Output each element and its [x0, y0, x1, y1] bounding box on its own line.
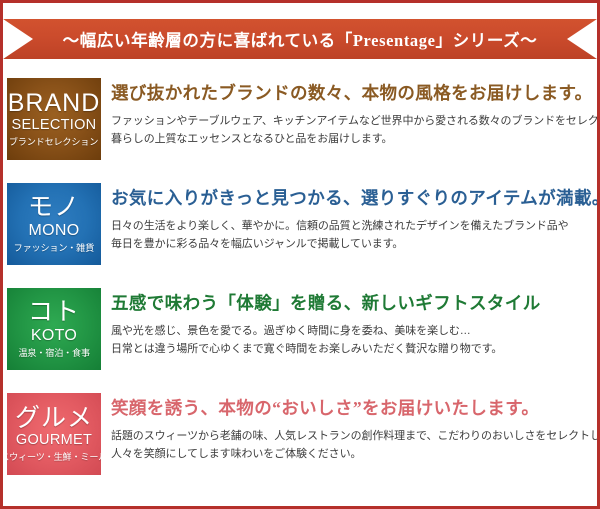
section-description-line-2: 毎日を豊かに彩る品々を幅広いジャンルで掲載しています。 — [111, 235, 589, 253]
section-description-line-2: 日常とは違う場所で心ゆくまで寛ぐ時間をお楽しみいただく贅沢な贈り物です。 — [111, 340, 589, 358]
badge-subtitle-en: GOURMET — [16, 432, 92, 449]
section-description-line-2: 暮らしの上質なエッセンスとなるひと品をお届けします。 — [111, 130, 589, 148]
section-headline: 選び抜かれたブランドの数々、本物の風格をお届けします。 — [111, 83, 589, 105]
section-body-brand: 選び抜かれたブランドの数々、本物の風格をお届けします。 ファッションやテーブルウ… — [101, 75, 597, 148]
section-description-line-1: ファッションやテーブルウェア、キッチンアイテムなど世界中から愛される数々のブラン… — [111, 112, 589, 130]
section-description-line-1: 日々の生活をより楽しく、華やかに。信頼の品質と洗練されたデザインを備えたブランド… — [111, 217, 589, 235]
badge-title: BRAND — [8, 90, 101, 116]
badge-subtitle-en: MONO — [29, 221, 80, 240]
section-brand: BRAND SELECTION ブランドセレクション 選び抜かれたブランドの数々… — [3, 75, 597, 180]
badge-caption: ブランドセレクション — [9, 137, 98, 148]
section-description-line-1: 風や光を感じ、景色を愛でる。過ぎゆく時間に身を委ね、美味を楽しむ… — [111, 322, 589, 340]
section-mono: モノ MONO ファッション・雑貨 お気に入りがきっと見つかる、選りすぐりのアイ… — [3, 180, 597, 285]
section-body-koto: 五感で味わう「体験」を贈る、新しいギフトスタイル 風や光を感じ、景色を愛でる。過… — [101, 285, 597, 358]
promo-page: 〜幅広い年齢層の方に喜ばれている「Presentage」シリーズ〜 BRAND … — [0, 0, 600, 509]
section-gourmet: グルメ GOURMET スウィーツ・生鮮・ミール 笑顔を誘う、本物の“おいしさ”… — [3, 390, 597, 495]
badge-brand[interactable]: BRAND SELECTION ブランドセレクション — [7, 78, 101, 160]
badge-koto[interactable]: コト KOTO 温泉・宿泊・食事 — [7, 288, 101, 370]
section-description-line-2: 人々を笑顔にしてします味わいをご体験ください。 — [111, 445, 589, 463]
section-description-line-1: 話題のスウィーツから老舗の味、人気レストランの創作料理まで、こだわりのおいしさを… — [111, 427, 589, 445]
ribbon-banner: 〜幅広い年齢層の方に喜ばれている「Presentage」シリーズ〜 — [3, 19, 597, 59]
section-headline: 五感で味わう「体験」を贈る、新しいギフトスタイル — [111, 293, 589, 315]
badge-subtitle-en: SELECTION — [12, 117, 97, 134]
badge-caption: 温泉・宿泊・食事 — [18, 348, 89, 359]
badge-title: モノ — [28, 194, 80, 220]
badge-caption: ファッション・雑貨 — [14, 243, 94, 254]
section-body-gourmet: 笑顔を誘う、本物の“おいしさ”をお届けいたします。 話題のスウィーツから老舗の味… — [101, 390, 597, 463]
category-sections: BRAND SELECTION ブランドセレクション 選び抜かれたブランドの数々… — [3, 75, 597, 495]
badge-title: コト — [28, 299, 80, 325]
banner-title: 〜幅広い年齢層の方に喜ばれている「Presentage」シリーズ〜 — [63, 27, 538, 51]
section-headline: 笑顔を誘う、本物の“おいしさ”をお届けいたします。 — [111, 398, 589, 420]
badge-mono[interactable]: モノ MONO ファッション・雑貨 — [7, 183, 101, 265]
badge-gourmet[interactable]: グルメ GOURMET スウィーツ・生鮮・ミール — [7, 393, 101, 475]
badge-title: グルメ — [15, 405, 93, 431]
ribbon-body: 〜幅広い年齢層の方に喜ばれている「Presentage」シリーズ〜 — [3, 19, 597, 59]
badge-subtitle-en: KOTO — [31, 326, 77, 345]
section-koto: コト KOTO 温泉・宿泊・食事 五感で味わう「体験」を贈る、新しいギフトスタイ… — [3, 285, 597, 390]
section-headline: お気に入りがきっと見つかる、選りすぐりのアイテムが満載。 — [111, 188, 589, 210]
section-body-mono: お気に入りがきっと見つかる、選りすぐりのアイテムが満載。 日々の生活をより楽しく… — [101, 180, 597, 253]
badge-caption: スウィーツ・生鮮・ミール — [7, 452, 101, 463]
